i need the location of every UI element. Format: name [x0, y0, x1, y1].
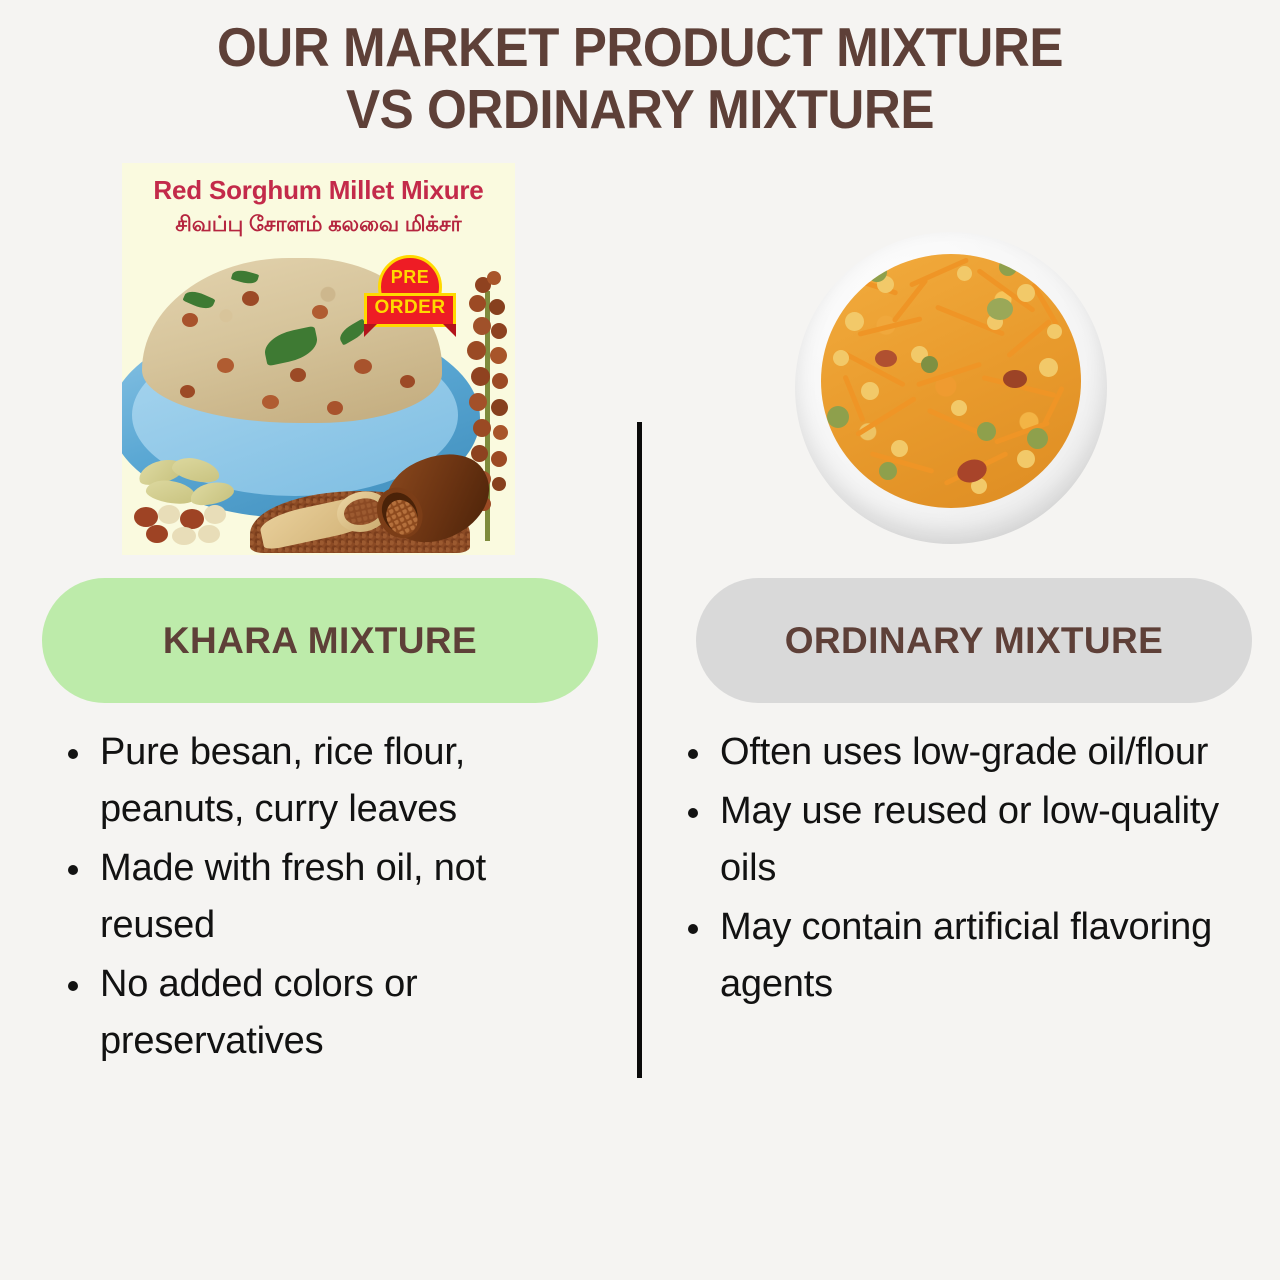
- khara-mixture-product-image: Red Sorghum Millet Mixure சிவப்பு சோளம் …: [122, 163, 515, 555]
- list-item: May contain artificial flavoring agents: [672, 899, 1237, 1013]
- list-item: Made with fresh oil, not reused: [52, 840, 597, 954]
- pre-order-badge: PRE ORDER: [364, 255, 456, 345]
- ordinary-mixture-bowl-image: [795, 232, 1107, 544]
- ordinary-mixture-contents: [821, 254, 1081, 508]
- badge-pre-text: PRE: [378, 267, 442, 288]
- list-item: No added colors or preservatives: [52, 956, 597, 1070]
- list-item: Pure besan, rice flour, peanuts, curry l…: [52, 724, 597, 838]
- comparison-poster: OUR MARKET PRODUCT MIXTURE VS ORDINARY M…: [0, 0, 1280, 1280]
- page-title: OUR MARKET PRODUCT MIXTURE VS ORDINARY M…: [0, 16, 1280, 140]
- list-item: Often uses low-grade oil/flour: [672, 724, 1237, 781]
- column-divider: [637, 422, 642, 1078]
- khara-mixture-label-text: KHARA MIXTURE: [163, 620, 477, 662]
- khara-mixture-label-pill: KHARA MIXTURE: [42, 578, 598, 703]
- peanuts-graphic: [132, 459, 258, 547]
- khara-mixture-feature-list: Pure besan, rice flour, peanuts, curry l…: [52, 724, 597, 1072]
- title-line-2: VS ORDINARY MIXTURE: [45, 78, 1235, 140]
- ordinary-mixture-label-pill: ORDINARY MIXTURE: [696, 578, 1252, 703]
- product-label-subtitle-tamil: சிவப்பு சோளம் கலவை மிக்சர்: [122, 213, 515, 239]
- list-item: May use reused or low-quality oils: [672, 783, 1237, 897]
- badge-order-text: ORDER: [364, 297, 456, 319]
- title-line-1: OUR MARKET PRODUCT MIXTURE: [45, 16, 1235, 78]
- product-label-title: Red Sorghum Millet Mixure: [122, 175, 515, 206]
- ordinary-mixture-feature-list: Often uses low-grade oil/flour May use r…: [672, 724, 1237, 1015]
- ordinary-mixture-label-text: ORDINARY MIXTURE: [785, 620, 1163, 662]
